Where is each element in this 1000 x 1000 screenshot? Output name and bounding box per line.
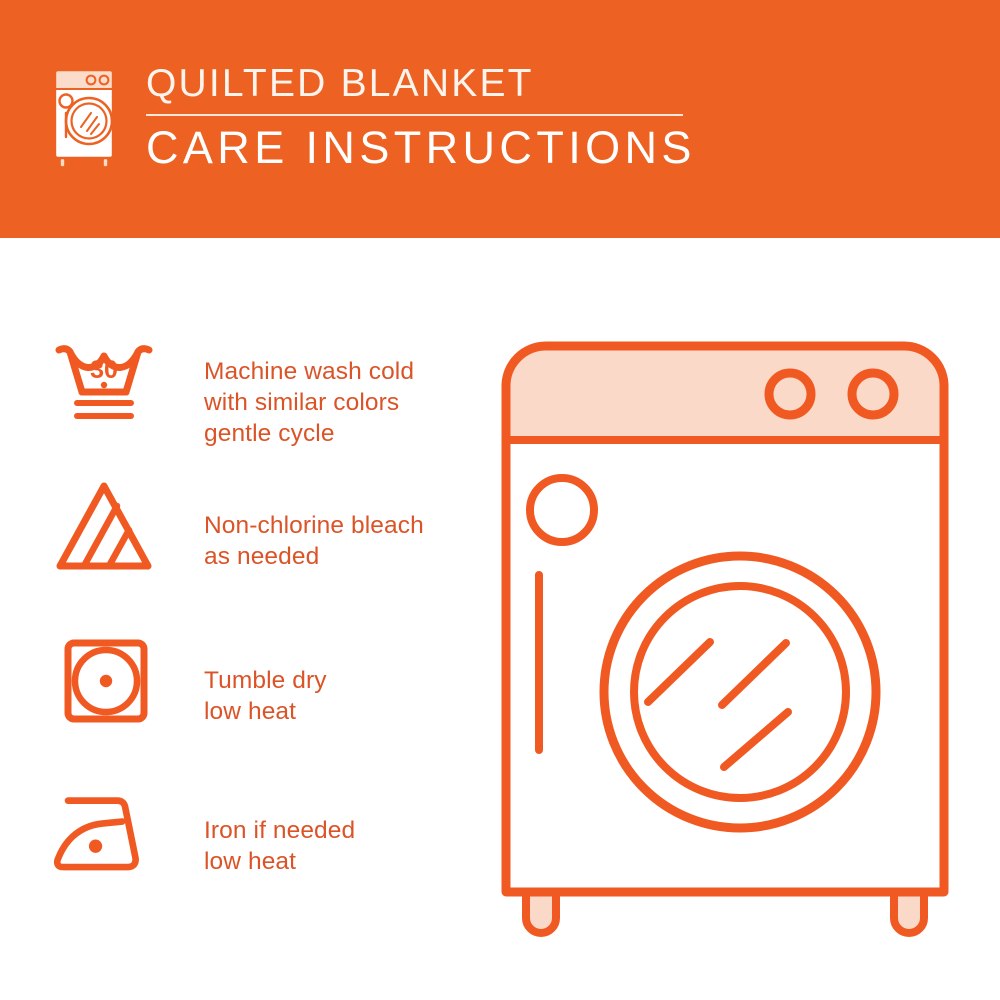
foot-left [526, 892, 556, 933]
instruction-row-wash: 30 Machine wash cold with similar colors… [50, 338, 480, 449]
care-instructions-page: QUILTED BLANKET CARE INSTRUCTIONS 3 [0, 0, 1000, 1000]
instruction-text-dry: Tumble dry low heat [162, 633, 327, 727]
front-load-washing-machine-illustration [490, 330, 960, 940]
title-divider [146, 114, 683, 116]
instruction-row-dry: Tumble dry low heat [50, 633, 480, 729]
instruction-row-bleach: Non-chlorine bleach as needed [50, 478, 480, 574]
header-content: QUILTED BLANKET CARE INSTRUCTIONS [44, 62, 696, 173]
top-control-panel [506, 346, 944, 440]
iron-low-heat-icon [50, 783, 162, 879]
instruction-text-wash: Machine wash cold with similar colors ge… [162, 338, 414, 449]
tumble-dry-low-heat-icon [50, 633, 162, 729]
header-banner: QUILTED BLANKET CARE INSTRUCTIONS [0, 0, 1000, 238]
wash-temperature-label: 30 [90, 356, 118, 384]
wash-tub-30-gentle-icon: 30 [50, 338, 162, 434]
instruction-text-iron: Iron if needed low heat [162, 783, 355, 877]
care-instruction-list: 30 Machine wash cold with similar colors… [0, 238, 500, 1000]
product-title: QUILTED BLANKET [146, 62, 696, 112]
foot-right [894, 892, 924, 933]
washing-machine-icon [44, 64, 122, 170]
non-chlorine-bleach-triangle-icon [50, 478, 162, 574]
instruction-text-bleach: Non-chlorine bleach as needed [162, 478, 424, 572]
page-title: CARE INSTRUCTIONS [146, 123, 696, 173]
instruction-row-iron: Iron if needed low heat [50, 783, 480, 879]
header-titles: QUILTED BLANKET CARE INSTRUCTIONS [146, 62, 696, 173]
